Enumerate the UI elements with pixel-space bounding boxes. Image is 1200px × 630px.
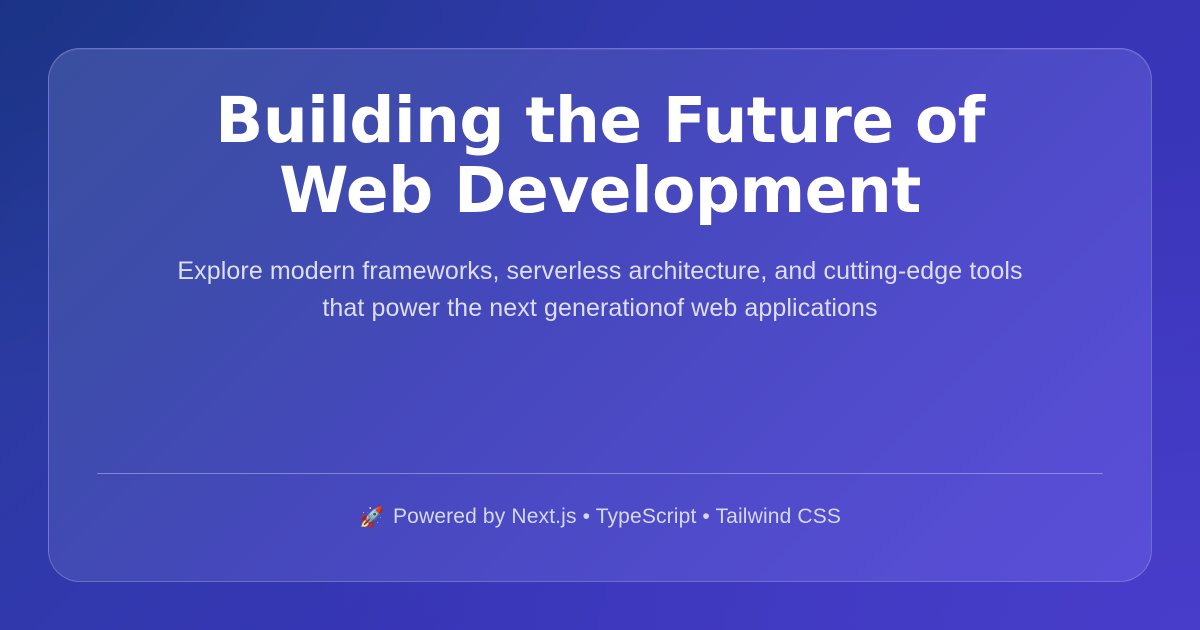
- page-title: Building the Future of Web Development: [150, 86, 1050, 226]
- section-divider: [97, 473, 1103, 474]
- rocket-icon: 🚀: [359, 508, 384, 528]
- hero-card: Building the Future of Web Development E…: [48, 48, 1152, 582]
- footer-credits: 🚀 Powered by Next.js • TypeScript • Tail…: [359, 505, 841, 529]
- footer-credits-label: Powered by Next.js • TypeScript • Tailwi…: [393, 505, 841, 529]
- page-subtitle: Explore modern frameworks, serverless ar…: [160, 253, 1040, 327]
- og-image-canvas: Building the Future of Web Development E…: [0, 0, 1200, 630]
